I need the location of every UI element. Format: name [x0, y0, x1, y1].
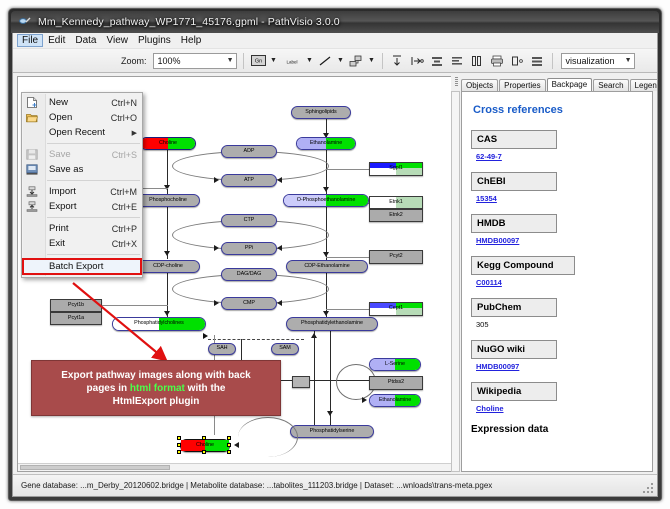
save-as-icon: [26, 164, 38, 175]
toolbar-separator-3: [552, 53, 553, 69]
window-title: Mm_Kennedy_pathway_WP1771_45176.gpml - P…: [38, 16, 340, 28]
title-bar[interactable]: Mm_Kennedy_pathway_WP1771_45176.gpml - P…: [11, 11, 659, 33]
node-label: Sphingolipids: [305, 110, 336, 115]
gene-label: Pcyt1a: [68, 316, 84, 321]
gene-pcyt1a[interactable]: Pcyt1a: [50, 312, 102, 325]
node-label: Phosphatidylserine: [310, 429, 355, 434]
node-phosphatidylserine[interactable]: Phosphatidylserine: [290, 425, 374, 438]
node-cmp[interactable]: CMP: [221, 297, 277, 310]
node-phosphatidylethanolamine[interactable]: Phosphatidylethanolamine: [286, 317, 378, 331]
label-dropdown-icon[interactable]: ▼: [306, 57, 314, 64]
xref-value-hmdb[interactable]: HMDB00097: [471, 233, 643, 245]
gene-sgpl1[interactable]: Sgpl1: [369, 162, 423, 176]
xref-link-hmdb[interactable]: HMDB00097: [476, 236, 519, 245]
node-label: CTP: [244, 218, 255, 223]
pathvisio-app-icon: [18, 15, 32, 29]
node-label: ATP: [244, 178, 254, 183]
line-button[interactable]: [317, 52, 334, 69]
application-window: Mm_Kennedy_pathway_WP1771_45176.gpml - P…: [8, 8, 662, 501]
gene-ptdss2[interactable]: Ptdss2: [369, 376, 423, 390]
window-body: File Edit Data View Plugins Help Zoom: 1…: [12, 33, 658, 497]
menu-separator-3: [47, 217, 140, 218]
node-label: ADP: [244, 149, 255, 154]
new-file-icon: [26, 97, 38, 108]
menu-edit[interactable]: Edit: [43, 34, 70, 47]
shape-dropdown-icon[interactable]: ▼: [368, 57, 376, 64]
node-choline[interactable]: Choline: [140, 137, 196, 150]
node-sam[interactable]: SAM: [271, 343, 299, 355]
callout-highlight: html format: [130, 383, 185, 394]
selection-handle[interactable]: [227, 443, 231, 447]
menu-accel-open: Ctrl+O: [111, 113, 137, 123]
node-sphingolipids[interactable]: Sphingolipids: [291, 106, 351, 119]
callout-line-1: Export pathway images along with back: [61, 369, 251, 382]
node-cdp-choline[interactable]: CDP-choline: [136, 260, 200, 273]
menu-item-export[interactable]: Export Ctrl+E: [22, 199, 142, 214]
menu-accel-save: Ctrl+S: [112, 150, 137, 160]
xref-link-nugo[interactable]: HMDB00097: [476, 362, 519, 371]
menu-label-print: Print: [49, 223, 69, 234]
selection-handle[interactable]: [177, 443, 181, 447]
xref-link-wikipedia[interactable]: Choline: [476, 404, 504, 413]
menu-item-open[interactable]: Open Ctrl+O: [22, 110, 142, 125]
menu-label-exit: Exit: [49, 238, 65, 249]
tab-objects[interactable]: Objects: [461, 79, 498, 91]
menu-file[interactable]: File: [17, 34, 43, 47]
xref-source-hmdb: HMDB: [471, 214, 557, 233]
menu-item-print[interactable]: Print Ctrl+P: [22, 221, 142, 236]
menu-label-export: Export: [49, 201, 76, 212]
label-button[interactable]: Label: [281, 52, 303, 69]
menu-label-import: Import: [49, 186, 76, 197]
menu-label-save: Save: [49, 149, 71, 160]
node-ppi[interactable]: PPi: [221, 242, 277, 255]
datanode-button[interactable]: Gn: [250, 52, 267, 69]
menu-accel-print: Ctrl+P: [112, 224, 137, 234]
tab-properties[interactable]: Properties: [499, 79, 545, 91]
node-atp[interactable]: ATP: [221, 174, 277, 187]
xref-source-kegg: Kegg Compound: [471, 256, 575, 275]
node-label: CMP: [243, 301, 255, 306]
align-left-button[interactable]: [409, 52, 426, 69]
gene-pcyt1b[interactable]: Pcyt1b: [50, 299, 102, 312]
menu-item-save: Save Ctrl+S: [22, 147, 142, 162]
svg-text:Label: Label: [286, 59, 297, 64]
gene-pcyt2[interactable]: Pcyt2: [369, 250, 423, 264]
shape-button[interactable]: [348, 52, 365, 69]
xref-link-chebi[interactable]: 15354: [476, 194, 497, 203]
node-label: SAM: [279, 346, 291, 351]
gene-etnk1[interactable]: Etnk1: [369, 196, 423, 209]
node-label: PPi: [245, 246, 253, 251]
gene-label: Etnk1: [389, 200, 403, 205]
gene-label: Cept1: [389, 306, 403, 311]
same-width-button[interactable]: [469, 52, 486, 69]
menu-label-open-recent: Open Recent: [49, 127, 105, 138]
backpage-title: Cross references: [473, 104, 643, 116]
callout-line-2b: with the: [185, 383, 226, 394]
xref-value-wikipedia[interactable]: Choline: [471, 401, 643, 413]
toolbar-separator: [243, 53, 244, 69]
expression-data-heading: Expression data: [471, 424, 643, 435]
menu-accel-import: Ctrl+M: [110, 187, 137, 197]
menu-item-new[interactable]: New Ctrl+N: [22, 95, 142, 110]
menu-bar: File Edit Data View Plugins Help: [13, 33, 657, 49]
menu-accel-new: Ctrl+N: [111, 98, 137, 108]
node-label: Ethanolamine: [310, 141, 342, 146]
menu-accel-export: Ctrl+E: [112, 202, 137, 212]
toolbar: Zoom: 100% ▼ Gn ▼ Label: [13, 49, 657, 73]
node-cdp-ethanolamine[interactable]: CDP-Ethanolamine: [286, 260, 368, 273]
menu-item-import[interactable]: Import Ctrl+M: [22, 184, 142, 199]
node-sah[interactable]: SAH: [208, 343, 236, 355]
gene-label: Etnk2: [389, 213, 403, 218]
xref-source-wikipedia: Wikipedia: [471, 382, 557, 401]
gene-label: Pcyt2: [389, 254, 402, 259]
node-label: CDP-Ethanolamine: [304, 264, 349, 269]
toolbar-separator-2: [382, 53, 383, 69]
align-top-button[interactable]: [389, 52, 406, 69]
backpage-panel: Cross references CAS 62-49-7 ChEBI 15354…: [461, 91, 653, 472]
visualization-combobox[interactable]: visualization ▼: [561, 53, 635, 69]
anchor-block: [292, 376, 310, 388]
xref-source-cas: CAS: [471, 130, 557, 149]
status-bar: Gene database: ...m_Derby_20120602.bridg…: [13, 474, 657, 496]
xref-value-nugo[interactable]: HMDB00097: [471, 359, 643, 371]
visualization-value: visualization: [566, 56, 615, 66]
node-label: Choline: [159, 141, 177, 146]
node-dag[interactable]: DAG/DAG: [221, 268, 277, 281]
tab-legend[interactable]: Legend: [630, 79, 658, 91]
same-height-button[interactable]: [509, 52, 526, 69]
svg-text:Gn: Gn: [254, 59, 261, 65]
selection-handle[interactable]: [227, 450, 231, 454]
node-label: O-Phosphoethanolamine: [297, 198, 356, 203]
callout-line-2: pages in html format with the: [87, 382, 226, 395]
datanode-dropdown-icon[interactable]: ▼: [270, 57, 278, 64]
submenu-chevron-icon: ▶: [132, 129, 137, 137]
gene-label: Pcyt1b: [68, 303, 84, 308]
menu-item-batch-export[interactable]: Batch Export: [22, 258, 142, 275]
gene-etnk2[interactable]: Etnk2: [369, 209, 423, 222]
zoom-value: 100%: [158, 56, 181, 66]
xref-value-pubchem: 305: [471, 317, 643, 329]
screenshot-root: Mm_Kennedy_pathway_WP1771_45176.gpml - P…: [0, 0, 670, 509]
menu-view[interactable]: View: [101, 34, 133, 47]
menu-separator-4: [47, 254, 140, 255]
chevron-down-icon: ▼: [227, 57, 234, 64]
selection-handle[interactable]: [177, 436, 181, 440]
print-button[interactable]: [489, 52, 506, 69]
gene-label: Sgpl1: [389, 166, 403, 171]
node-ctp[interactable]: CTP: [221, 214, 277, 227]
node-label: Phosphatidylcholines: [134, 321, 184, 326]
node-adp[interactable]: ADP: [221, 145, 277, 158]
selection-handle[interactable]: [227, 436, 231, 440]
menu-label-open: Open: [49, 112, 72, 123]
node-o-phosphoethanolamine[interactable]: O-Phosphoethanolamine: [283, 194, 369, 207]
status-text: Gene database: ...m_Derby_20120602.bridg…: [21, 481, 492, 490]
line-dropdown-icon[interactable]: ▼: [337, 57, 345, 64]
xref-source-nugo: NuGO wiki: [471, 340, 557, 359]
node-label: Choline: [196, 443, 214, 448]
dock-grip-handle[interactable]: [453, 77, 459, 89]
selection-handle[interactable]: [202, 450, 206, 454]
node-label: SAH: [217, 346, 228, 351]
menu-item-open-recent[interactable]: Open Recent ▶: [22, 125, 142, 140]
node-label: Ethanolamine: [379, 398, 411, 403]
stack-button[interactable]: [529, 52, 546, 69]
canvas-horizontal-scrollbar[interactable]: [18, 463, 460, 471]
export-icon: [26, 201, 38, 212]
arrow-into-choline: [234, 442, 239, 448]
node-label: Phosphatidylethanolamine: [301, 321, 363, 326]
gene-label: Ptdss2: [388, 380, 404, 385]
menu-accel-exit: Ctrl+X: [112, 239, 137, 249]
menu-help[interactable]: Help: [176, 34, 207, 47]
node-phosphocholine[interactable]: Phosphocholine: [136, 194, 200, 207]
chevron-down-icon-2: ▼: [625, 57, 632, 64]
side-dock: Objects Properties Backpage Search Legen…: [451, 76, 653, 472]
xref-source-chebi: ChEBI: [471, 172, 557, 191]
node-ethanolamine-1[interactable]: Ethanolamine: [296, 137, 356, 150]
import-icon: [26, 186, 38, 197]
node-phosphatidylcholines[interactable]: Phosphatidylcholines: [112, 317, 206, 331]
open-folder-icon: [26, 112, 38, 123]
xref-link-cas[interactable]: 62-49-7: [476, 152, 502, 161]
xref-value-cas[interactable]: 62-49-7: [471, 149, 643, 161]
node-label: Phosphocholine: [149, 198, 187, 203]
annotation-callout: Export pathway images along with back pa…: [31, 360, 281, 416]
node-label: CDP-choline: [153, 264, 183, 269]
menu-item-exit[interactable]: Exit Ctrl+X: [22, 236, 142, 251]
selection-handle[interactable]: [177, 450, 181, 454]
zoom-label: Zoom:: [121, 56, 147, 66]
stack-rows-button[interactable]: [449, 52, 466, 69]
node-label: DAG/DAG: [237, 272, 262, 277]
resize-grip-icon[interactable]: [641, 481, 653, 493]
menu-label-new: New: [49, 97, 68, 108]
tab-search[interactable]: Search: [593, 79, 628, 91]
menu-label-save-as: Save as: [49, 164, 83, 175]
xref-value-chebi[interactable]: 15354: [471, 191, 643, 203]
save-disk-icon: [26, 149, 38, 160]
callout-line-2a: pages in: [87, 383, 130, 394]
node-label: L-Serine: [385, 362, 405, 367]
file-menu-dropdown[interactable]: New Ctrl+N Open Ctrl+O Open Recent: [21, 92, 143, 278]
xref-link-kegg[interactable]: C00114: [476, 278, 502, 287]
zoom-combobox[interactable]: 100% ▼: [153, 53, 237, 69]
node-l-serine[interactable]: L-Serine: [369, 358, 421, 371]
xref-source-pubchem: PubChem: [471, 298, 557, 317]
menu-separator: [47, 143, 140, 144]
stack-center-button[interactable]: [429, 52, 446, 69]
gene-cept1[interactable]: Cept1: [369, 302, 423, 316]
menu-item-save-as[interactable]: Save as: [22, 162, 142, 177]
menu-data[interactable]: Data: [70, 34, 101, 47]
xref-value-kegg[interactable]: C00114: [471, 275, 643, 287]
selection-handle[interactable]: [202, 436, 206, 440]
tab-backpage[interactable]: Backpage: [547, 78, 593, 91]
menu-separator-2: [47, 180, 140, 181]
menu-label-batch-export: Batch Export: [49, 261, 103, 272]
dock-left-scrollbar[interactable]: [451, 91, 460, 472]
dock-tab-strip: Objects Properties Backpage Search Legen…: [461, 76, 653, 91]
callout-line-3: HtmlExport plugin: [113, 395, 200, 408]
menu-plugins[interactable]: Plugins: [133, 34, 176, 47]
node-ethanolamine-2[interactable]: Ethanolamine: [369, 394, 421, 407]
